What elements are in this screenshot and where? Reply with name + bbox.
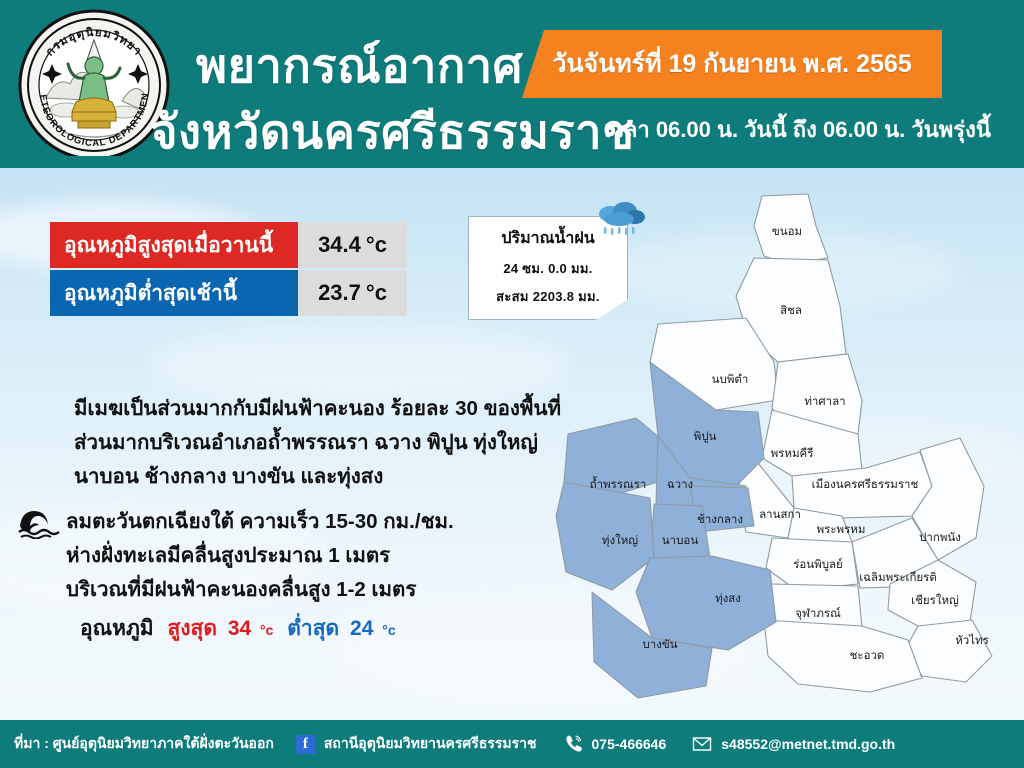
page-title-line1: พยากรณ์อากาศ [196, 28, 523, 103]
min-temp-value: 23.7 °c [298, 270, 407, 316]
min-temp-number: 23.7 [318, 280, 361, 306]
sea-line: บริเวณที่มีฝนฟ้าคะนองคลื่นสูง 1-2 เมตร [66, 573, 606, 607]
province-district-map[interactable]: ขนอม สิชล นบพิตำ ท่าศาลา พิปูน พรหมคีรี … [540, 186, 1024, 706]
footer-email[interactable]: s48552@metnet.tmd.go.th [692, 734, 895, 754]
min-temp-unit: °c [366, 280, 387, 306]
sea-line: ห่างฝั่งทะเลมีคลื่นสูงประมาณ 1 เมตร [66, 539, 606, 573]
max-temp-number: 34.4 [318, 232, 361, 258]
min-temp-label: อุณหภูมิต่ำสุดเช้านี้ [50, 270, 298, 316]
phone-icon [563, 734, 583, 754]
forecast-text-block: มีเมฆเป็นส่วนมากกับมีฝนฟ้าคะนอง ร้อยละ 3… [74, 392, 604, 494]
date-badge-label: วันจันทร์ที่ 19 กันยายน พ.ศ. 2565 [552, 44, 911, 84]
footer-phone[interactable]: 075-466646 [563, 734, 667, 754]
table-row: อุณหภูมิต่ำสุดเช้านี้ 23.7 °c [50, 270, 407, 316]
wave-icon [18, 507, 62, 539]
map-svg [540, 186, 1024, 706]
forecast-period-label: เวลา 06.00 น. วันนี้ ถึง 06.00 น. วันพรุ… [604, 112, 991, 147]
max-temp-unit: °c [366, 232, 387, 258]
temp-summary-max-label: สูงสุด [167, 617, 217, 640]
footer-phone-number[interactable]: 075-466646 [592, 736, 667, 752]
footer-source-label: ที่มา : ศูนย์อุตุนิยมวิทยาภาคใต้ฝั่งตะวั… [14, 733, 274, 755]
date-badge: วันจันทร์ที่ 19 กันยายน พ.ศ. 2565 [522, 30, 942, 98]
temp-summary-min-label: ต่ำสุด [287, 617, 339, 640]
temperature-summary: อุณหภูมิ สูงสุด 34 °c ต่ำสุด 24 °c [80, 612, 396, 645]
page-footer: ที่มา : ศูนย์อุตุนิยมวิทยาภาคใต้ฝั่งตะวั… [0, 720, 1024, 768]
footer-facebook-label[interactable]: สถานีอุตุนิยมวิทยานครศรีธรรมราช [324, 733, 537, 755]
max-temp-label: อุณหภูมิสูงสุดเมื่อวานนี้ [50, 222, 298, 268]
forecast-line: มีเมฆเป็นส่วนมากกับมีฝนฟ้าคะนอง ร้อยละ 3… [74, 392, 604, 426]
envelope-icon [692, 734, 712, 754]
temperature-table: อุณหภูมิสูงสุดเมื่อวานนี้ 34.4 °c อุณหภู… [50, 222, 407, 318]
temp-summary-label: อุณหภูมิ [80, 617, 154, 640]
footer-source: ที่มา : ศูนย์อุตุนิยมวิทยาภาคใต้ฝั่งตะวั… [14, 733, 274, 755]
sea-condition-block: ลมตะวันตกเฉียงใต้ ความเร็ว 15-30 กม./ชม.… [66, 505, 606, 607]
footer-email-address[interactable]: s48552@metnet.tmd.go.th [721, 736, 895, 752]
temp-summary-max-value: 34 [228, 617, 251, 640]
page-title-line2: จังหวัดนครศรีธรรมราช [150, 94, 634, 168]
sea-line: ลมตะวันตกเฉียงใต้ ความเร็ว 15-30 กม./ชม. [66, 505, 606, 539]
facebook-icon[interactable]: f [296, 735, 315, 754]
table-row: อุณหภูมิสูงสุดเมื่อวานนี้ 34.4 °c [50, 222, 407, 268]
footer-facebook[interactable]: f สถานีอุตุนิยมวิทยานครศรีธรรมราช [296, 733, 537, 755]
forecast-line: ส่วนมากบริเวณอำเภอถ้ำพรรณรา ฉวาง พิปูน ท… [74, 426, 604, 460]
temp-summary-min-value: 24 [350, 617, 373, 640]
forecast-line: นาบอน ช้างกลาง บางขัน และทุ่งสง [74, 460, 604, 494]
temp-summary-max-unit: °c [260, 622, 273, 638]
page-header: กรมอุตุนิยมวิทยา METEOROLOGICAL DEPARTME… [0, 0, 1024, 168]
max-temp-value: 34.4 °c [298, 222, 407, 268]
temp-summary-min-unit: °c [382, 622, 395, 638]
